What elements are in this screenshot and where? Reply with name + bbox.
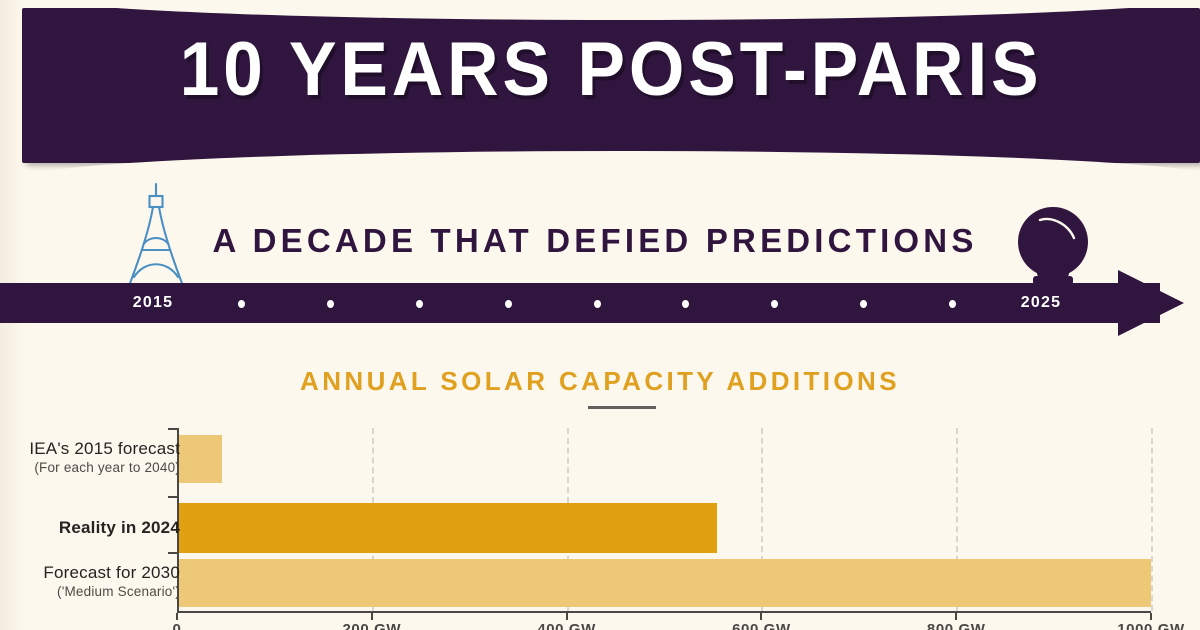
timeline-dot: [949, 300, 956, 308]
timeline-dot: [860, 300, 867, 308]
timeline-dot: [505, 300, 512, 308]
timeline-dot: [594, 300, 601, 308]
chart-bar-label: Forecast for 2030('Medium Scenario'): [0, 562, 180, 601]
chart-x-tick-label: 200 GW: [342, 621, 401, 630]
chart-x-tick-label: 400 GW: [537, 621, 596, 630]
chart-x-tick-label: 1000 GW: [1117, 621, 1185, 630]
title-banner: 10 YEARS POST-PARIS: [0, 0, 1200, 175]
chart-bar-label-sub: (For each year to 2040): [0, 459, 180, 477]
chart-bar-label: IEA's 2015 forecast(For each year to 204…: [0, 438, 180, 477]
chart-bar-label-sub: ('Medium Scenario'): [0, 583, 180, 601]
chart-x-tick: [760, 613, 762, 620]
chart-gridline: [1151, 428, 1153, 611]
chart-x-tick: [176, 613, 178, 620]
chart-bar[interactable]: [179, 503, 717, 553]
timeline-end-year: 2025: [1021, 294, 1061, 312]
chart-x-tick: [566, 613, 568, 620]
banner-curve-bottom: [22, 151, 1200, 179]
chart-x-tick-label: 600 GW: [732, 621, 791, 630]
page-title: 10 YEARS POST-PARIS: [57, 26, 1164, 113]
banner-curve-top: [22, 0, 1200, 20]
chart-bar[interactable]: [179, 559, 1151, 607]
subtitle: A DECADE THAT DEFIED PREDICTIONS: [200, 222, 990, 260]
chart-bar-label-main: Reality in 2024: [0, 517, 180, 538]
chart-x-axis: [177, 611, 1151, 613]
chart-bar[interactable]: [179, 435, 222, 483]
infographic-root: 10 YEARS POST-PARIS A DECADE THAT DEFIED…: [0, 0, 1200, 630]
chart-x-tick: [955, 613, 957, 620]
timeline-bar: [0, 283, 1160, 323]
timeline: 2015 2025: [0, 270, 1200, 340]
timeline-dot: [416, 300, 423, 308]
chart-heading-rule: [588, 406, 656, 409]
chart-bar-label-main: Forecast for 2030: [0, 562, 180, 583]
chart-y-tick: [168, 552, 178, 554]
banner-body: 10 YEARS POST-PARIS: [22, 8, 1200, 163]
chart-y-tick: [168, 428, 178, 430]
chart-x-tick-label: 800 GW: [927, 621, 986, 630]
chart-x-tick-label: 0: [173, 621, 182, 630]
chart-bar-label: Reality in 2024: [0, 517, 180, 538]
chart-y-tick: [168, 496, 178, 498]
timeline-start-year: 2015: [133, 294, 173, 312]
chart-x-tick: [371, 613, 373, 620]
chart-x-tick: [1150, 613, 1152, 620]
bar-chart: 0200 GW400 GW600 GW800 GW1000 GW IEA's 2…: [0, 425, 1200, 630]
chart-heading: ANNUAL SOLAR CAPACITY ADDITIONS: [0, 366, 1200, 397]
timeline-arrow-icon: [1118, 270, 1184, 336]
chart-bar-label-main: IEA's 2015 forecast: [0, 438, 180, 459]
